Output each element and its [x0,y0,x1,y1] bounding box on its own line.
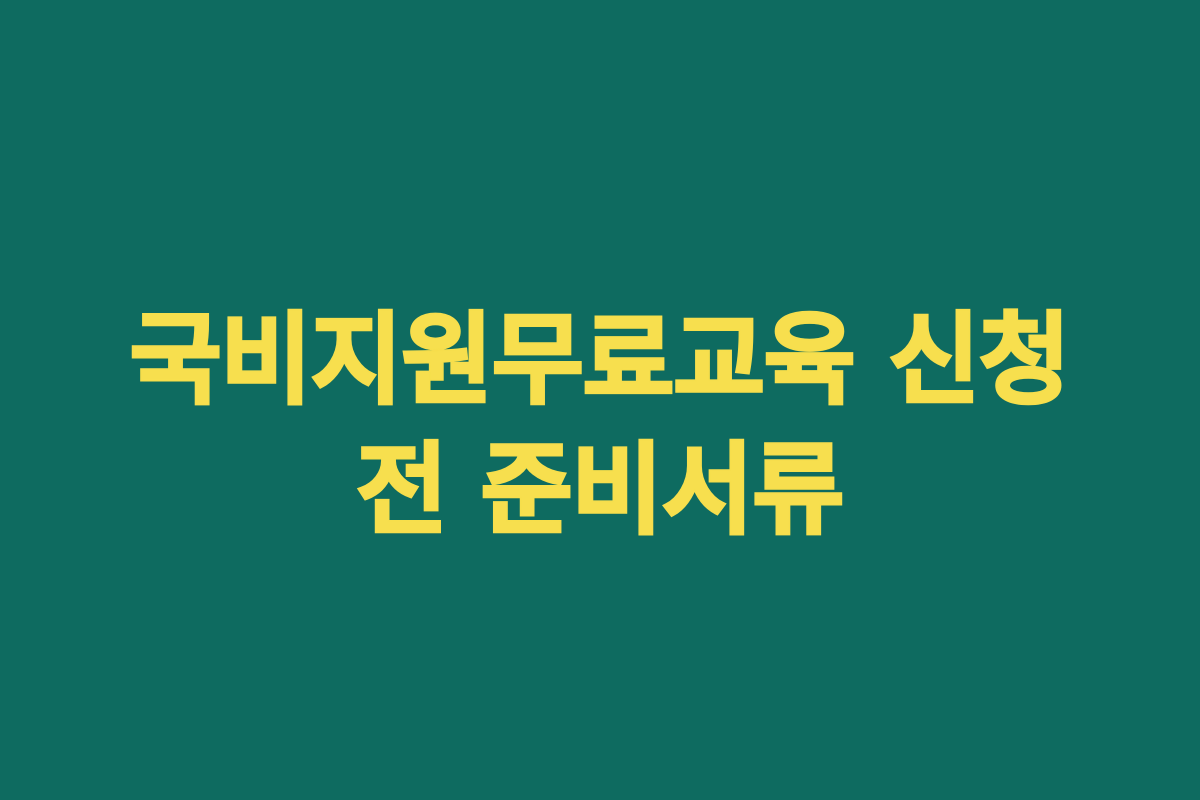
banner-canvas: 국비지원무료교육 신청 전 준비서류 [0,0,1200,800]
headline-line-2: 전 준비서류 [0,426,1200,556]
headline-line-1: 국비지원무료교육 신청 [0,296,1200,426]
headline-block: 국비지원무료교육 신청 전 준비서류 [0,296,1200,556]
